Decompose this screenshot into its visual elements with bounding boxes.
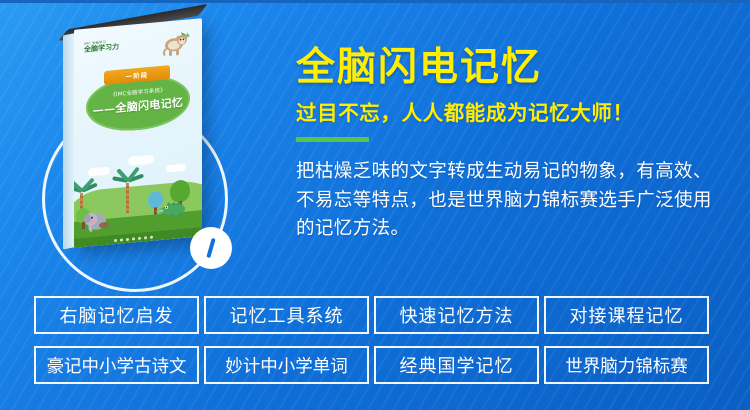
tag-button-6[interactable]: 妙计中小学单词 xyxy=(204,346,369,384)
product-box: IMC 全脑学习 全脑学习力 xyxy=(74,18,202,248)
product-artwork: IMC 全脑学习 全脑学习力 xyxy=(52,14,302,294)
cloud-icon xyxy=(88,167,110,177)
cover-illustration-scene xyxy=(74,144,202,248)
feature-tag-grid: 右脑记忆启发 记忆工具系统 快速记忆方法 对接课程记忆 豪记中小学古诗文 妙计中… xyxy=(34,296,724,384)
headline-block: 全脑闪电记忆 过目不忘，人人都能成为记忆大师！ 把枯燥乏味的文字转成生动易记的物… xyxy=(296,48,736,244)
top-border-line xyxy=(0,0,750,3)
badge-slash-mark xyxy=(206,238,215,258)
number-badge xyxy=(190,227,232,269)
monkey-icon xyxy=(159,29,193,60)
box-cover: IMC 全脑学习 全脑学习力 xyxy=(74,18,202,248)
cloud-icon xyxy=(166,164,186,173)
page-subtitle: 过目不忘，人人都能成为记忆大师！ xyxy=(296,96,736,126)
cloud-icon xyxy=(128,155,154,166)
tag-button-7[interactable]: 经典国学记忆 xyxy=(374,346,539,384)
tag-button-4[interactable]: 对接课程记忆 xyxy=(544,296,709,334)
description-text: 把枯燥乏味的文字转成生动易记的物象，有高效、不易忘等特点，也是世界脑力锦标赛选手… xyxy=(296,158,716,244)
palm-tree-icon xyxy=(126,183,129,213)
tag-button-3[interactable]: 快速记忆方法 xyxy=(374,296,539,334)
elephant-icon xyxy=(82,205,110,234)
promo-banner: IMC 全脑学习 全脑学习力 xyxy=(0,0,750,410)
page-title: 全脑闪电记忆 xyxy=(296,48,736,89)
crocodile-icon xyxy=(154,199,188,220)
tag-button-8[interactable]: 世界脑力锦标赛 xyxy=(544,346,709,384)
tag-button-5[interactable]: 豪记中小学古诗文 xyxy=(34,346,199,384)
brand-logo: IMC 全脑学习 全脑学习力 xyxy=(84,39,128,54)
tag-button-2[interactable]: 记忆工具系统 xyxy=(204,296,369,334)
tag-button-1[interactable]: 右脑记忆启发 xyxy=(34,296,199,334)
accent-divider xyxy=(296,137,369,142)
